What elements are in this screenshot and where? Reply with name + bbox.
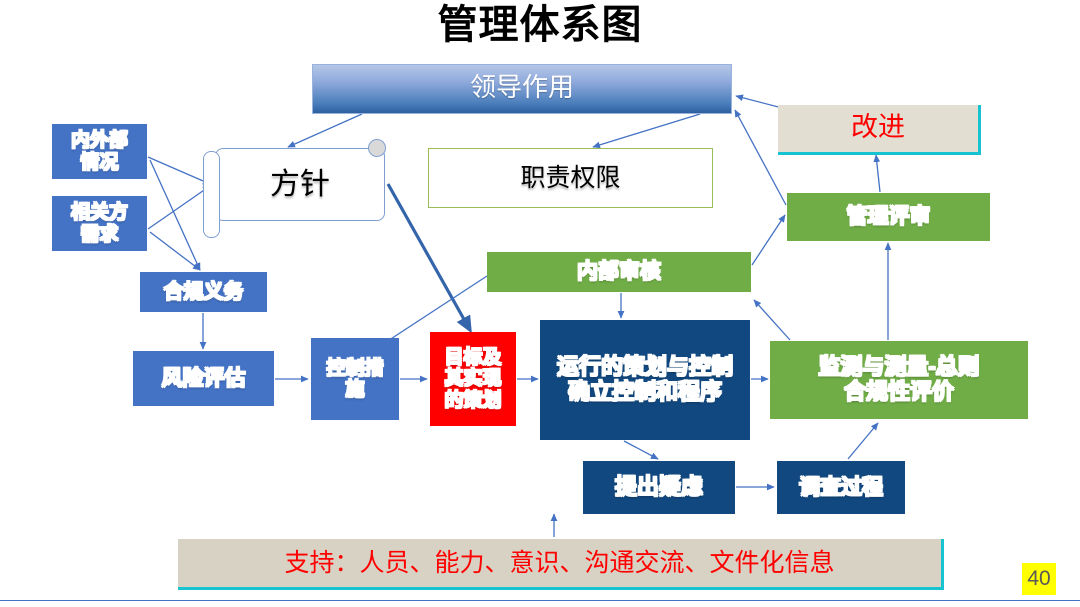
node-interested-party-line1: 相关方 [71, 202, 128, 223]
edge-interested-compliance [150, 232, 200, 270]
node-interested-party[interactable]: 相关方 需求 [52, 196, 147, 251]
node-monitoring-measurement-line2: 合规性评价 [818, 380, 979, 405]
slide-canvas: 管理体系图 [0, 0, 1080, 607]
edge-audit-review [752, 215, 785, 265]
node-support-banner[interactable]: 支持：人员、能力、意识、沟通交流、文件化信息 [178, 539, 941, 587]
node-control-measures[interactable]: 控制措 施 [311, 338, 399, 420]
edge-internalext-policy [148, 157, 210, 184]
footer-divider [0, 600, 1080, 601]
node-leadership[interactable]: 领导作用 [312, 64, 732, 114]
node-monitoring-measurement-line1: 监测与测量-总则 [818, 355, 979, 380]
node-investigation-process-label: 调查过程 [799, 476, 883, 500]
edge-leadership-policy [288, 114, 362, 147]
node-objectives-planning-line2: 其实现 [444, 368, 501, 389]
node-management-review-label: 管理评审 [847, 205, 931, 229]
node-objectives-planning-line1: 目标及 [444, 347, 501, 368]
node-internal-audit[interactable]: 内部审核 [487, 252, 751, 292]
edge-review-improvement [876, 155, 880, 192]
node-risk-assessment[interactable]: 风险评估 [133, 351, 274, 406]
node-investigation-process[interactable]: 调查过程 [777, 461, 905, 514]
node-operation-control[interactable]: 运行的策划与控制 确立控制和程序 [540, 320, 750, 440]
node-internal-external-line1: 内外部 [71, 130, 128, 151]
node-compliance-obligation-label: 合规义务 [164, 281, 244, 303]
node-improvement[interactable]: 改进 [778, 105, 978, 152]
page-title: 管理体系图 [0, 0, 1080, 46]
node-policy[interactable]: 方针 [215, 148, 385, 221]
node-internal-external-line2: 情况 [71, 152, 128, 173]
node-operation-control-line1: 运行的策划与控制 [557, 355, 733, 380]
node-policy-label: 方针 [270, 168, 330, 202]
node-responsibility-label: 职责权限 [520, 164, 620, 192]
node-support-banner-label: 支持：人员、能力、意识、沟通交流、文件化信息 [284, 549, 834, 577]
node-compliance-obligation[interactable]: 合规义务 [140, 272, 267, 312]
node-objectives-planning[interactable]: 目标及 其实现 的策划 [430, 332, 516, 426]
node-operation-control-line2: 确立控制和程序 [557, 380, 733, 405]
node-raise-concern-label: 提出疑虑 [615, 475, 703, 500]
node-objectives-planning-line3: 的策划 [444, 390, 501, 411]
edge-leadership-responsibility [593, 114, 700, 147]
node-interested-party-line2: 需求 [71, 224, 128, 245]
node-management-review[interactable]: 管理评审 [787, 193, 990, 241]
node-responsibility[interactable]: 职责权限 [428, 148, 713, 208]
edge-monitoring-audit [754, 300, 790, 340]
node-control-measures-line2: 施 [326, 379, 383, 400]
node-risk-assessment-label: 风险评估 [162, 367, 246, 391]
node-improvement-label: 改进 [851, 113, 905, 143]
node-internal-external[interactable]: 内外部 情况 [52, 124, 147, 179]
node-monitoring-measurement[interactable]: 监测与测量-总则 合规性评价 [770, 341, 1028, 419]
edge-operation-concern [624, 441, 658, 459]
node-raise-concern[interactable]: 提出疑虑 [583, 461, 735, 514]
edge-investigation-monitoring [848, 423, 878, 459]
page-number: 40 [1022, 563, 1056, 595]
node-internal-audit-label: 内部审核 [577, 260, 661, 284]
node-control-measures-line1: 控制措 [326, 358, 383, 379]
node-leadership-label: 领导作用 [470, 74, 574, 103]
